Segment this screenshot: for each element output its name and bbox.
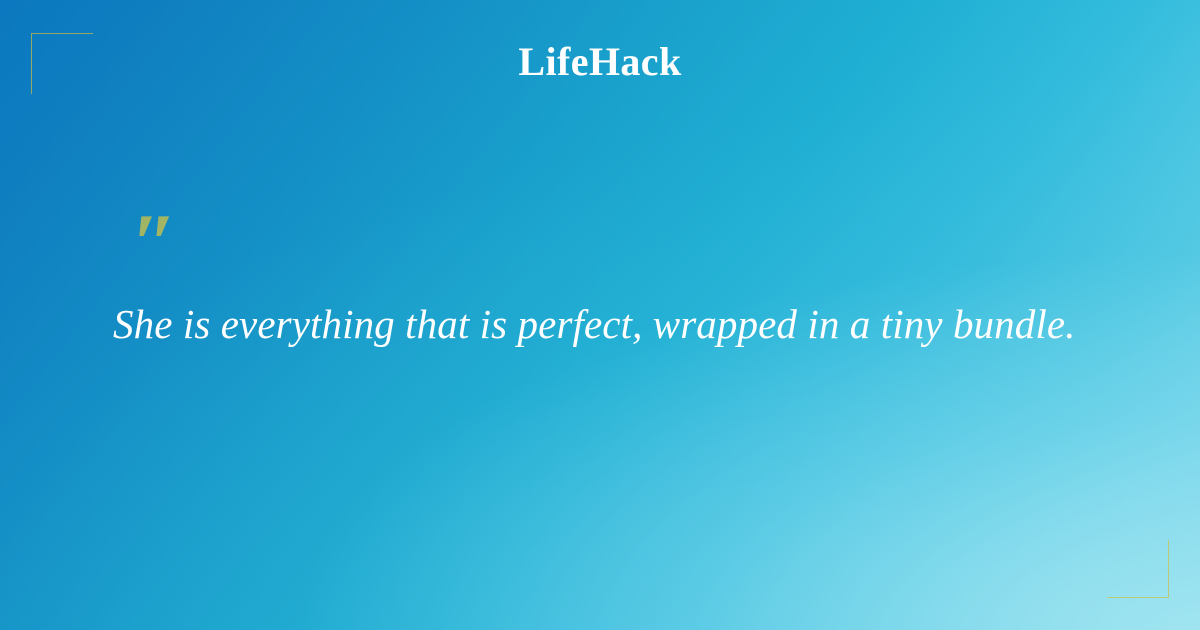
quote-card: LifeHack ″ She is everything that is per… xyxy=(0,0,1200,630)
quote-block: ″ She is everything that is perfect, wra… xyxy=(113,212,1113,350)
brand-logo: LifeHack xyxy=(0,38,1200,86)
quote-mark-icon: ″ xyxy=(131,212,1113,276)
quote-text: She is everything that is perfect, wrapp… xyxy=(113,298,1113,350)
corner-bracket-bottom-right-icon xyxy=(1107,540,1169,598)
